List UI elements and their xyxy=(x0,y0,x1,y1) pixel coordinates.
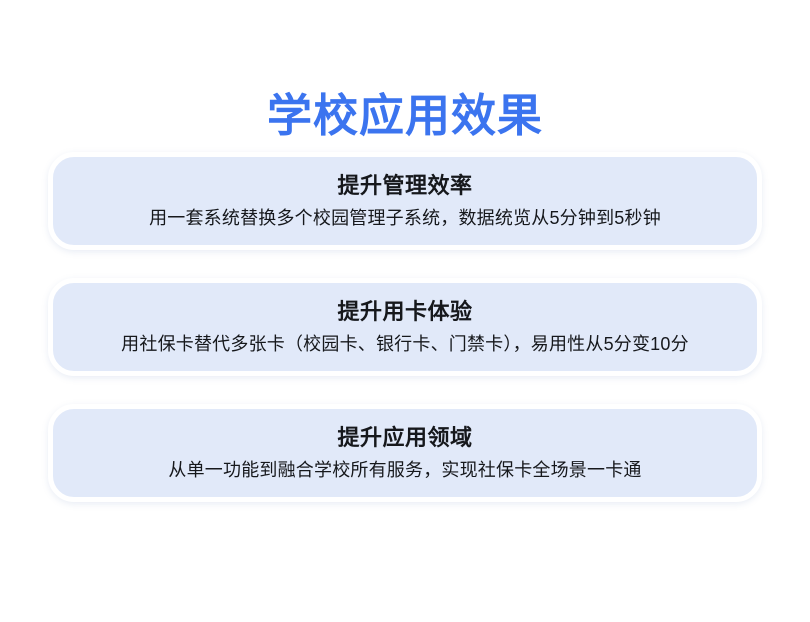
benefit-card-2: 提升用卡体验 用社保卡替代多张卡（校园卡、银行卡、门禁卡），易用性从5分变10分 xyxy=(48,278,762,376)
slide-root: 学校应用效果 提升管理效率 用一套系统替换多个校园管理子系统，数据统览从5分钟到… xyxy=(0,0,810,622)
benefit-card-1-body: 用一套系统替换多个校园管理子系统，数据统览从5分钟到5秒钟 xyxy=(149,205,661,231)
benefit-card-2-body: 用社保卡替代多张卡（校园卡、银行卡、门禁卡），易用性从5分变10分 xyxy=(121,331,689,357)
benefit-card-3: 提升应用领域 从单一功能到融合学校所有服务，实现社保卡全场景一卡通 xyxy=(48,404,762,502)
benefit-card-3-heading: 提升应用领域 xyxy=(337,423,472,453)
benefit-card-3-body: 从单一功能到融合学校所有服务，实现社保卡全场景一卡通 xyxy=(168,457,641,483)
page-title: 学校应用效果 xyxy=(0,88,810,144)
benefit-card-list: 提升管理效率 用一套系统替换多个校园管理子系统，数据统览从5分钟到5秒钟 提升用… xyxy=(48,152,762,502)
benefit-card-2-heading: 提升用卡体验 xyxy=(337,297,472,327)
benefit-card-1-heading: 提升管理效率 xyxy=(337,171,472,201)
benefit-card-1: 提升管理效率 用一套系统替换多个校园管理子系统，数据统览从5分钟到5秒钟 xyxy=(48,152,762,250)
